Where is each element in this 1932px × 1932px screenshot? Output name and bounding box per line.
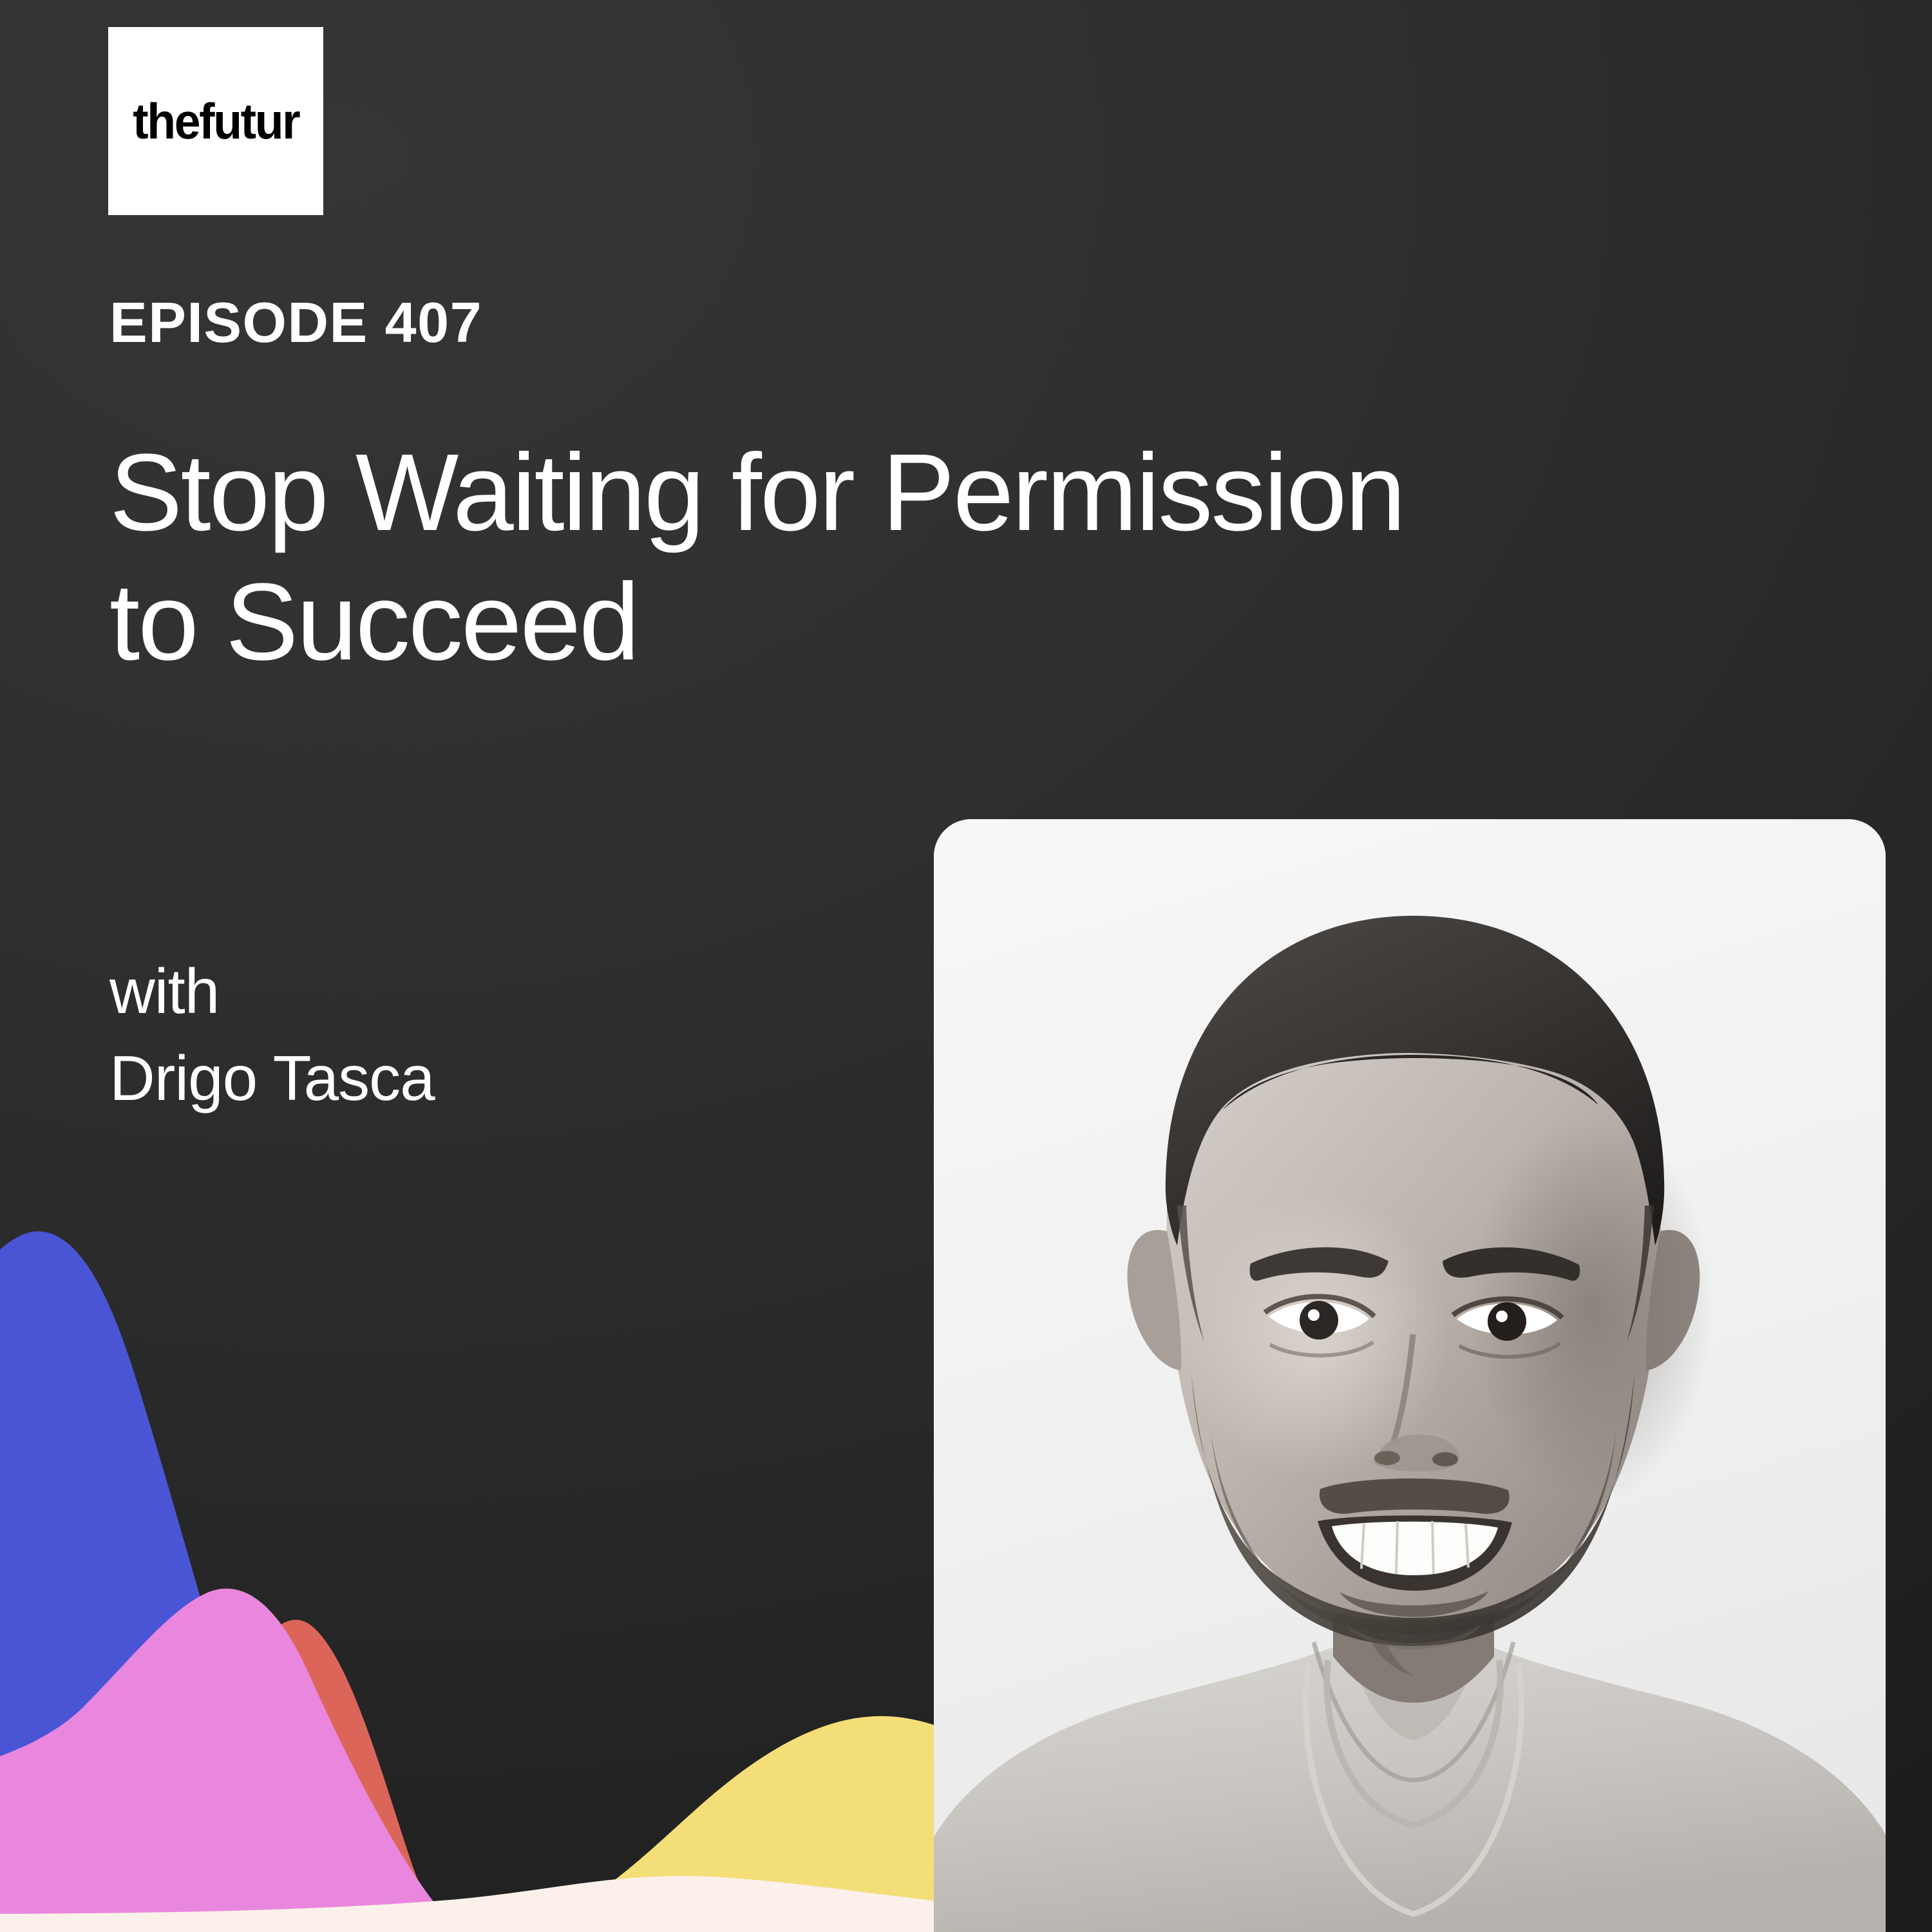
- title-line-2: to Succeed: [109, 558, 1880, 687]
- episode-label: EPISODE 407: [109, 294, 482, 351]
- title-line-1: Stop Waiting for Permission: [109, 428, 1880, 558]
- page-title: Stop Waiting for Permission to Succeed: [109, 428, 1880, 687]
- guest-name: Drigo Tasca: [109, 1046, 435, 1110]
- guest-portrait-card: [934, 819, 1886, 1932]
- with-label: with: [109, 960, 219, 1023]
- podcast-cover-art: thefutur EPISODE 407 Stop Waiting for Pe…: [0, 0, 1932, 1932]
- guest-portrait-photo: [934, 819, 1886, 1932]
